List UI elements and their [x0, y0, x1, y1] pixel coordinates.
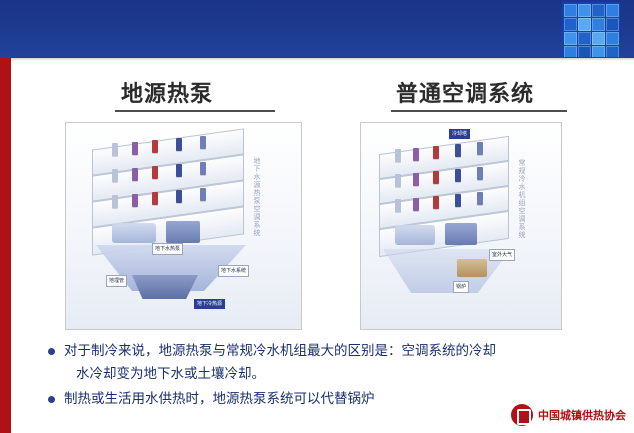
- indoor-unit: [413, 148, 419, 161]
- indoor-unit: [152, 192, 158, 205]
- indoor-unit: [200, 136, 206, 149]
- indoor-unit: [455, 169, 461, 182]
- indoor-unit: [176, 190, 182, 203]
- indoor-unit: [132, 194, 138, 207]
- indoor-unit: [200, 162, 206, 175]
- indoor-unit: [112, 169, 118, 182]
- pump-unit: [445, 223, 477, 245]
- indoor-unit: [433, 146, 439, 159]
- boiler-unit: [457, 259, 487, 277]
- book-circle-icon: [511, 404, 533, 426]
- indoor-unit: [455, 194, 461, 207]
- indoor-unit: [176, 138, 182, 151]
- heading-left: 地源热泵: [121, 76, 213, 108]
- indoor-unit: [455, 144, 461, 157]
- indoor-unit: [112, 195, 118, 208]
- indoor-unit: [152, 166, 158, 179]
- indoor-unit: [413, 173, 419, 186]
- bullet-item-2-line1: 制热或生活用水供热时，地源热泵系统可以代替锅炉: [64, 391, 375, 407]
- figure-ground-source-heat-pump: 地下水源热泵空调系统 地下水热泵 地下水系统 地下冷热源 地埋管: [65, 122, 302, 330]
- heat-pump-unit: [112, 223, 156, 243]
- figure-left-label-2: 地下冷热源: [194, 299, 225, 309]
- figure-left-canvas: 地下水源热泵空调系统 地下水热泵 地下水系统 地下冷热源 地埋管: [66, 123, 301, 329]
- figure-left-label-0: 地下水热泵: [152, 243, 183, 255]
- indoor-unit: [395, 149, 401, 162]
- figure-left-label-1: 地下水系统: [218, 265, 249, 277]
- indoor-unit: [132, 168, 138, 181]
- indoor-unit: [433, 196, 439, 209]
- indoor-unit: [176, 164, 182, 177]
- footer-brand: 中国城镇供热协会: [511, 403, 626, 427]
- header-band: [0, 0, 634, 58]
- bullet-dot-icon: [48, 348, 55, 355]
- indoor-unit: [477, 167, 483, 180]
- heading-right: 普通空调系统: [396, 76, 534, 108]
- indoor-unit: [132, 142, 138, 155]
- indoor-unit: [395, 199, 401, 212]
- bullet-item-1-line1: 对于制冷来说，地源热泵与常规冷水机组最大的区别是：空调系统的冷却: [64, 343, 496, 359]
- chiller-unit: [395, 225, 435, 245]
- indoor-unit: [152, 140, 158, 153]
- bullet-item-1: 对于制冷来说，地源热泵与常规冷水机组最大的区别是：空调系统的冷却 水冷却变为地下…: [48, 340, 628, 386]
- figure-right-canvas: 常规冷水机组空调系统 冷却塔 室外大气 锅炉: [361, 123, 561, 329]
- slide-canvas: 地源热泵 普通空调系统: [0, 0, 634, 433]
- heading-left-underline: [115, 110, 275, 112]
- figure-left-vertical-text: 地下水源热泵空调系统: [252, 157, 262, 237]
- bullet-dot-icon: [48, 396, 55, 403]
- figure-left-label-3: 地埋管: [106, 275, 127, 287]
- left-accent-bar: [0, 58, 11, 433]
- indoor-unit: [413, 198, 419, 211]
- heading-right-underline: [391, 110, 567, 112]
- figure-right-label-1: 室外大气: [489, 249, 515, 261]
- header-band-shadow: [0, 58, 634, 61]
- figure-right-label-2: 锅炉: [453, 281, 469, 293]
- figure-right-vertical-text: 常规冷水机组空调系统: [517, 159, 527, 239]
- bullet-item-1-line2: 水冷却变为地下水或土壤冷却。: [64, 363, 628, 386]
- figure-right-label-0: 冷却塔: [449, 129, 470, 139]
- indoor-unit: [112, 143, 118, 156]
- figure-conventional-ac-system: 常规冷水机组空调系统 冷却塔 室外大气 锅炉: [360, 122, 562, 330]
- indoor-unit: [477, 142, 483, 155]
- indoor-unit: [200, 188, 206, 201]
- headings-row: 地源热泵 普通空调系统: [11, 70, 634, 116]
- indoor-unit: [433, 171, 439, 184]
- indoor-unit: [477, 192, 483, 205]
- footer-brand-text: 中国城镇供热协会: [538, 407, 626, 423]
- indoor-unit: [395, 174, 401, 187]
- cube-logo-icon: [562, 2, 620, 57]
- chiller-unit: [166, 221, 200, 243]
